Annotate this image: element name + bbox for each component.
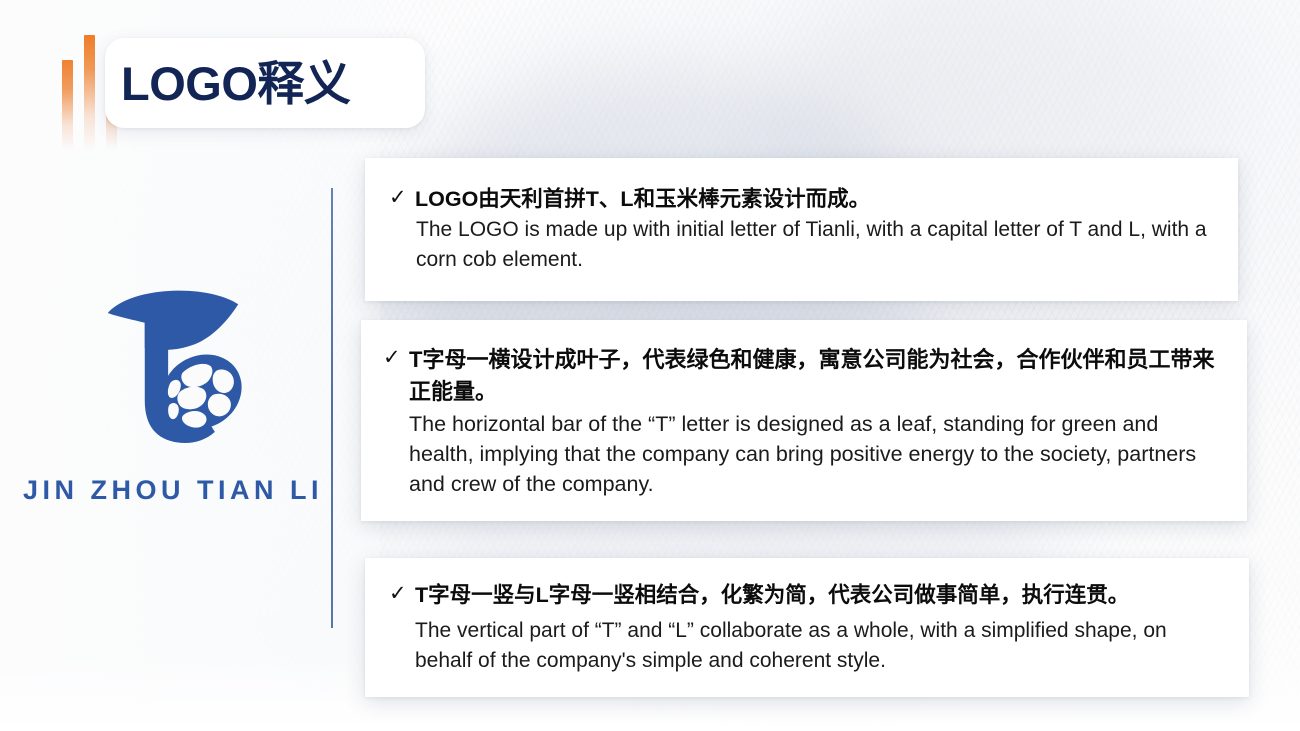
accent-bar-1	[62, 60, 73, 150]
tianli-leaf-corn-logo-icon	[89, 278, 257, 463]
card-2-heading-cn: T字母一横设计成叶子，代表绿色和健康，寓意公司能为社会，合作伙伴和员工带来正能量…	[409, 344, 1227, 408]
accent-bar-2	[84, 35, 95, 150]
vertical-divider	[331, 188, 333, 628]
bullet-item: ✓ LOGO由天利首拼T、L和玉米棒元素设计而成。 The LOGO is ma…	[389, 184, 1214, 275]
check-mark-icon: ✓	[389, 184, 415, 211]
bullet-text-group: T字母一横设计成叶子，代表绿色和健康，寓意公司能为社会，合作伙伴和员工带来正能量…	[409, 344, 1227, 499]
content-card-3: ✓ T字母一竖与L字母一竖相结合，化繁为简，代表公司做事简单，执行连贯。 The…	[365, 558, 1249, 697]
check-mark-icon: ✓	[389, 580, 415, 607]
slide-title-badge: LOGO释义	[105, 38, 425, 128]
card-2-body-en: The horizontal bar of the “T” letter is …	[409, 409, 1227, 499]
bullet-text-group: T字母一竖与L字母一竖相结合，化繁为简，代表公司做事简单，执行连贯。 The v…	[415, 580, 1225, 676]
card-3-body-en: The vertical part of “T” and “L” collabo…	[415, 616, 1225, 676]
bullet-text-group: LOGO由天利首拼T、L和玉米棒元素设计而成。 The LOGO is made…	[415, 184, 1214, 275]
company-name-label: JIN ZHOU TIAN LI	[18, 475, 328, 506]
bullet-item: ✓ T字母一竖与L字母一竖相结合，化繁为简，代表公司做事简单，执行连贯。 The…	[389, 580, 1225, 676]
bullet-item: ✓ T字母一横设计成叶子，代表绿色和健康，寓意公司能为社会，合作伙伴和员工带来正…	[383, 344, 1227, 499]
page-title: LOGO释义	[121, 60, 350, 107]
content-card-1: ✓ LOGO由天利首拼T、L和玉米棒元素设计而成。 The LOGO is ma…	[365, 158, 1238, 301]
content-card-2: ✓ T字母一横设计成叶子，代表绿色和健康，寓意公司能为社会，合作伙伴和员工带来正…	[361, 320, 1247, 521]
card-3-heading-cn: T字母一竖与L字母一竖相结合，化繁为简，代表公司做事简单，执行连贯。	[415, 580, 1225, 610]
slide-canvas: LOGO释义 JIN ZHOU TIAN LI	[0, 0, 1300, 731]
card-1-body-en: The LOGO is made up with initial letter …	[415, 215, 1214, 275]
brand-logo-block: JIN ZHOU TIAN LI	[18, 278, 328, 506]
card-1-heading-cn: LOGO由天利首拼T、L和玉米棒元素设计而成。	[415, 184, 1214, 214]
check-mark-icon: ✓	[383, 344, 409, 371]
